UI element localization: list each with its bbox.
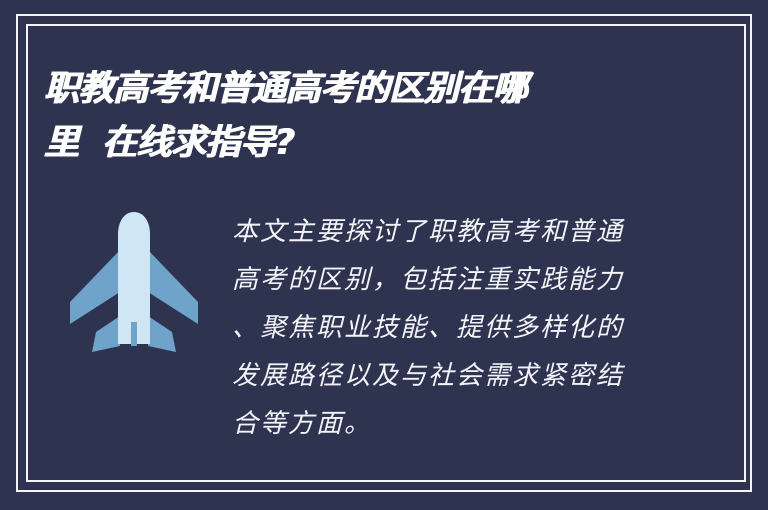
airplane-icon (62, 206, 206, 358)
body-paragraph: 本文主要探讨了职教高考和普通 高考的区别，包括注重实践能力 、聚焦职业技能、提供… (232, 208, 662, 448)
page-title: 职教高考和普通高考的区别在哪 里 在线求指导? (44, 62, 644, 170)
body-line-4: 发展路径以及与社会需求紧密结 (232, 352, 662, 400)
body-line-2: 高考的区别，包括注重实践能力 (232, 256, 662, 304)
body-line-3: 、聚焦职业技能、提供多样化的 (232, 304, 662, 352)
poster-canvas: 职教高考和普通高考的区别在哪 里 在线求指导? 本文主要探讨了职教高考和普通 高… (0, 0, 768, 510)
title-line-2: 里 在线求指导? (44, 116, 644, 170)
body-line-1: 本文主要探讨了职教高考和普通 (232, 208, 662, 256)
title-line-1: 职教高考和普通高考的区别在哪 (44, 62, 644, 116)
body-line-5: 合等方面。 (232, 400, 662, 448)
